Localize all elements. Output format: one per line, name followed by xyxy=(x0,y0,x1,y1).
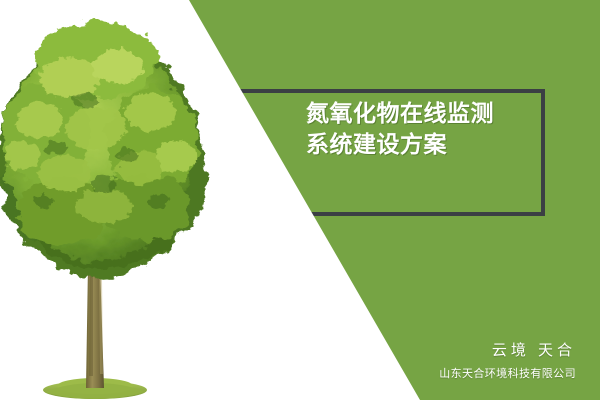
page-title: 氮氧化物在线监测 系统建设方案 xyxy=(306,98,556,160)
page-title-line-2: 系统建设方案 xyxy=(306,129,556,160)
brand-name: 云境 天合 xyxy=(439,340,576,362)
brand-company: 山东天合环境科技有限公司 xyxy=(439,365,576,383)
tree-trunk xyxy=(86,264,104,388)
slide-canvas: 氮氧化物在线监测 系统建设方案 云境 天合 山东天合环境科技有限公司 xyxy=(0,0,600,400)
page-title-line-1: 氮氧化物在线监测 xyxy=(306,98,556,129)
brand-block: 云境 天合 山东天合环境科技有限公司 xyxy=(439,340,576,383)
tree-illustration xyxy=(0,16,220,400)
